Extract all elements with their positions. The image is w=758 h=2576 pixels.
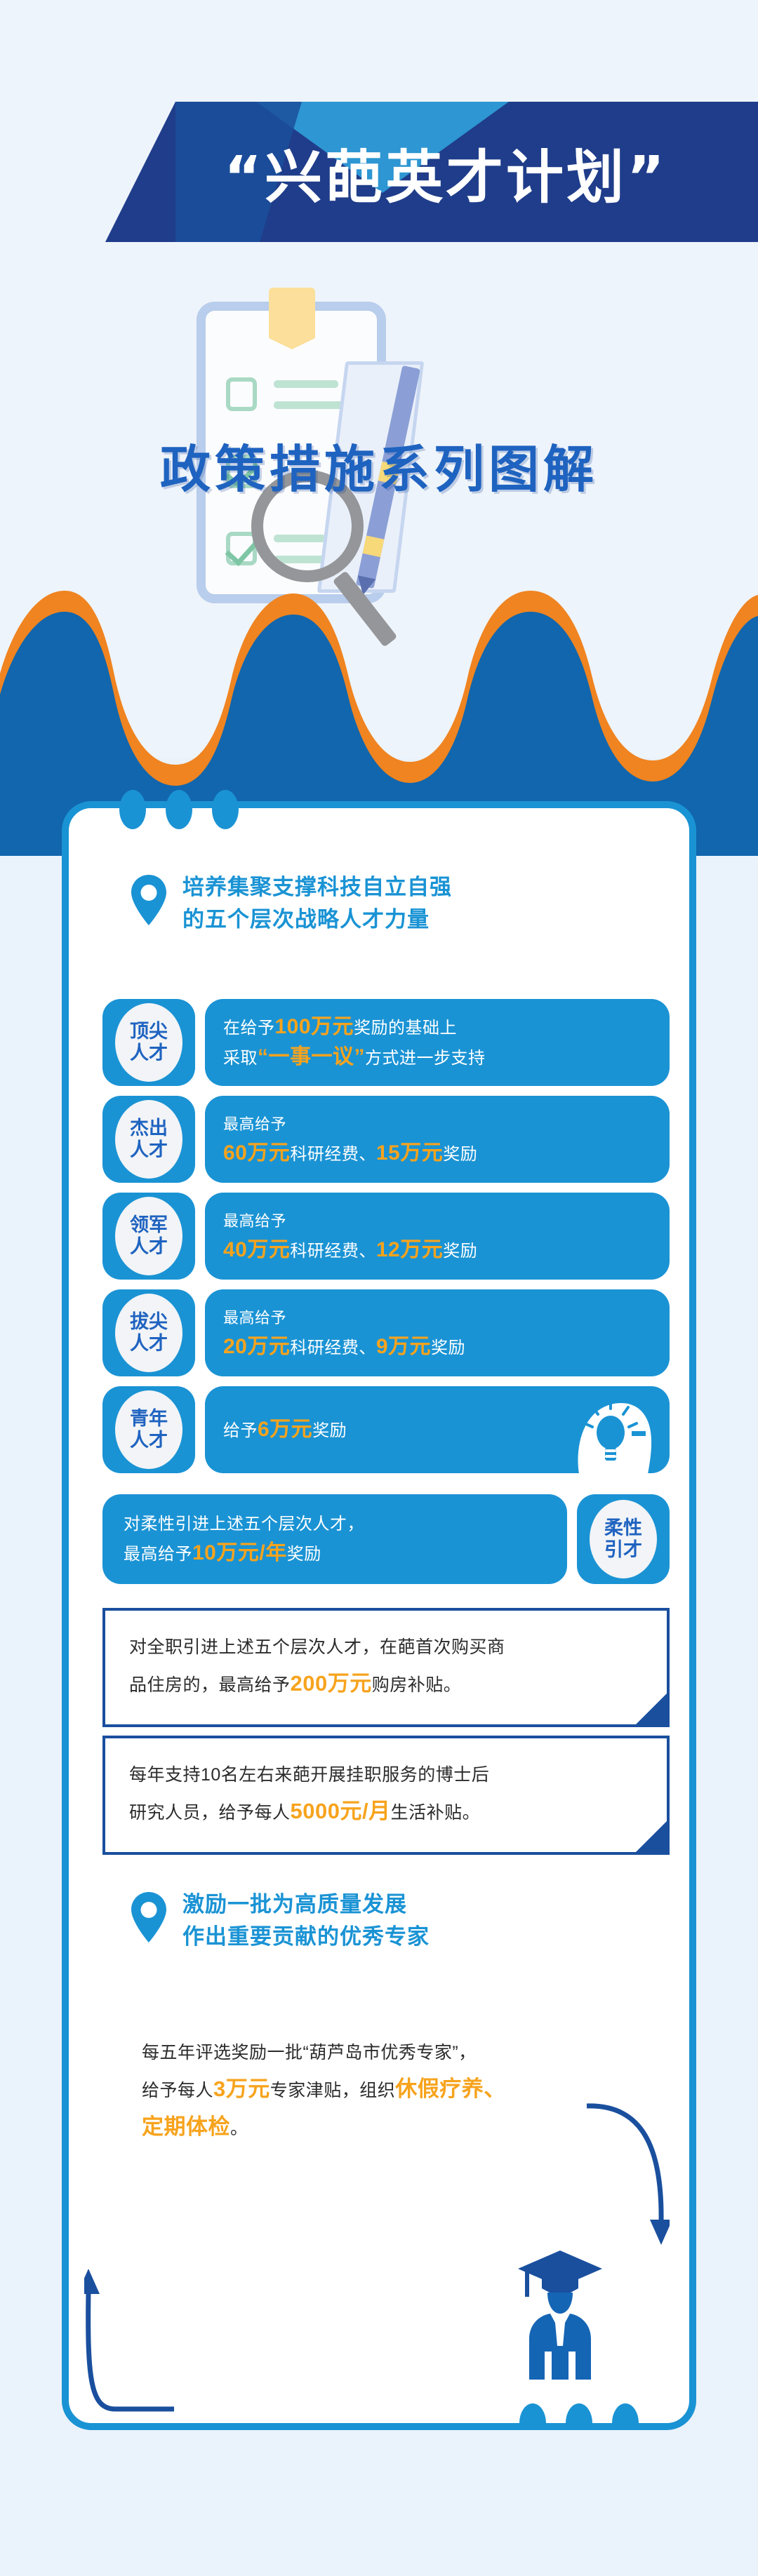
tier-row: 领军 人才 最高给予 40万元科研经费、12万元奖励 (102, 1193, 670, 1280)
flexible-label-line-2: 引才 (604, 1539, 642, 1561)
tier-description: 最高给予 20万元科研经费、9万元奖励 (205, 1289, 670, 1376)
amount-highlight: 60万元 (223, 1141, 290, 1165)
text-line-decoration (274, 380, 338, 388)
brain-lightbulb-icon (574, 1389, 657, 1473)
amount-highlight: 40万元 (223, 1238, 290, 1261)
text-mid: 科研经费、 (290, 1145, 376, 1164)
text-tail: 奖励 (443, 1145, 477, 1164)
tier-description: 最高给予 40万元科研经费、12万元奖励 (205, 1193, 670, 1280)
text-mid: 科研经费、 (290, 1339, 376, 1357)
tier-oval: 青年 人才 (115, 1390, 182, 1469)
binder-ring-icon (119, 790, 146, 829)
tier-badge-outstanding-talent: 杰出 人才 (102, 1096, 195, 1183)
note-line-2: 给予每人3万元专家津贴，组织休假疗养、 (142, 2071, 633, 2109)
text-pre: 最高给予 (124, 1545, 192, 1564)
note-line-1: 每年支持10名左右来葩开展挂职服务的博士后 (129, 1757, 643, 1793)
note-line-2: 研究人员，给予每人5000元/月生活补贴。 (129, 1793, 643, 1831)
tier-row: 拔尖 人才 最高给予 20万元科研经费、9万元奖励 (102, 1289, 670, 1376)
tier-label-line-1: 顶尖 (130, 1021, 168, 1042)
page-subtitle: 政策措施系列图解 (0, 428, 758, 502)
amount-highlight: 15万元 (376, 1141, 443, 1165)
text-pre: 给予 (223, 1421, 258, 1440)
tier-amount-line: 40万元科研经费、12万元奖励 (223, 1235, 651, 1266)
benefit-highlight: 休假疗养、 (395, 2077, 506, 2101)
tier-oval: 杰出 人才 (115, 1100, 182, 1179)
binder-ring-icon (212, 790, 239, 829)
amount-highlight: 5000元/月 (291, 1799, 391, 1823)
tier-row: 青年 人才 给予6万元奖励 (102, 1386, 670, 1473)
pen-band (363, 535, 385, 557)
tier-description: 在给予100万元奖励的基础上 采取“一事一议”方式进一步支持 (205, 999, 670, 1086)
text-post: 购房补贴。 (372, 1675, 462, 1695)
tier-label-line-2: 人才 (130, 1333, 168, 1355)
housing-subsidy-note: 对全职引进上述五个层次人才，在葩首次购买商 品住房的，最高给予200万元购房补贴… (102, 1608, 670, 1727)
flexible-line-2: 最高给予10万元/年奖励 (124, 1538, 546, 1569)
clipboard-clip-icon (269, 288, 315, 349)
location-pin-icon (131, 874, 167, 926)
benefit-highlight: 定期体检 (142, 2114, 230, 2139)
text-post: 生活补贴。 (391, 1803, 481, 1823)
graduate-person-icon (514, 2249, 606, 2380)
flexible-talent-badge: 柔性 引才 (577, 1494, 670, 1584)
note-line-1: 对全职引进上述五个层次人才，在葩首次购买商 (129, 1629, 643, 1665)
quote-highlight: “一事一议” (258, 1045, 365, 1068)
tier-badge-young-talent: 青年 人才 (102, 1386, 195, 1473)
tier-label-line-1: 领军 (130, 1214, 168, 1236)
tier-oval: 顶尖 人才 (115, 1003, 182, 1082)
section-2-title-line-2: 作出重要贡献的优秀专家 (182, 1921, 430, 1953)
text-post: 。 (230, 2119, 248, 2138)
text-tail: 奖励 (443, 1242, 477, 1261)
tier-description-line-2: 采取“一事一议”方式进一步支持 (223, 1042, 651, 1073)
tier-label-line-2: 人才 (130, 1139, 168, 1161)
amount-highlight: 9万元 (376, 1335, 431, 1358)
tier-oval: 拔尖 人才 (115, 1294, 182, 1372)
amount-highlight: 6万元 (258, 1418, 312, 1441)
amount-highlight: 12万元 (376, 1238, 443, 1261)
text-post: 方式进一步支持 (365, 1049, 486, 1068)
location-pin-icon (131, 1891, 167, 1943)
tier-lead-text: 最高给予 (223, 1110, 651, 1139)
tier-label-line-2: 人才 (130, 1042, 168, 1064)
tier-label-line-1: 拔尖 (130, 1311, 168, 1333)
page-title: “兴葩英才计划” (105, 102, 758, 242)
tier-label-line-2: 人才 (130, 1430, 168, 1451)
text-mid: 专家津贴，组织 (270, 2081, 396, 2100)
tier-label-line-1: 青年 (130, 1408, 168, 1430)
tier-description-line-1: 在给予100万元奖励的基础上 (223, 1012, 651, 1042)
tier-badge-top-talent: 顶尖 人才 (102, 999, 195, 1086)
checkbox-icon (226, 377, 257, 411)
amount-highlight: 100万元 (275, 1015, 354, 1038)
text-tail: 奖励 (431, 1339, 465, 1357)
text-post: 奖励的基础上 (354, 1019, 457, 1038)
note-line-3: 定期体检。 (142, 2109, 633, 2147)
amount-highlight: 3万元 (213, 2077, 270, 2101)
amount-highlight: 10万元/年 (192, 1541, 287, 1564)
text-post: 奖励 (287, 1545, 321, 1564)
amount-highlight: 200万元 (291, 1671, 372, 1696)
note-line-1: 每五年评选奖励一批“葫芦岛市优秀专家”， (142, 2034, 633, 2071)
text-pre: 在给予 (223, 1019, 275, 1038)
text-pre: 采取 (223, 1049, 258, 1068)
section-1-title-line-1: 培养集聚支撑科技自立自强 (182, 871, 452, 904)
tier-row: 顶尖 人才 在给予100万元奖励的基础上 采取“一事一议”方式进一步支持 (102, 999, 670, 1086)
note-line-2: 品住房的，最高给予200万元购房补贴。 (129, 1665, 643, 1703)
tier-label-line-2: 人才 (130, 1236, 168, 1258)
main-content-card: 培养集聚支撑科技自立自强 的五个层次战略人才力量 顶尖 人才 在给予100万元奖… (62, 801, 696, 2430)
tier-description: 给予6万元奖励 (205, 1386, 670, 1473)
section-2-title-line-1: 激励一批为高质量发展 (182, 1889, 430, 1921)
tier-badge-leading-talent: 领军 人才 (102, 1193, 195, 1280)
tier-lead-text: 最高给予 (223, 1303, 651, 1332)
tier-lead-text: 最高给予 (223, 1207, 651, 1235)
tier-description: 最高给予 60万元科研经费、15万元奖励 (205, 1096, 670, 1183)
tier-oval: 柔性 引才 (590, 1500, 657, 1578)
tier-badge-top-notch-talent: 拔尖 人才 (102, 1289, 195, 1376)
amount-highlight: 20万元 (223, 1335, 290, 1358)
tier-label-line-1: 杰出 (130, 1118, 168, 1139)
section-1-title-line-2: 的五个层次战略人才力量 (182, 904, 452, 936)
tier-amount-line: 60万元科研经费、15万元奖励 (223, 1139, 651, 1169)
flexible-line-1: 对柔性引进上述五个层次人才， (124, 1510, 546, 1538)
binder-ring-icon (166, 790, 192, 829)
flexible-talent-row: 对柔性引进上述五个层次人才， 最高给予10万元/年奖励 柔性 引才 (102, 1494, 670, 1584)
tier-oval: 领军 人才 (115, 1197, 182, 1275)
tier-amount-line: 20万元科研经费、9万元奖励 (223, 1332, 651, 1362)
text-pre: 研究人员，给予每人 (129, 1803, 291, 1823)
curved-arrow-up-icon (84, 2250, 175, 2419)
tier-row: 杰出 人才 最高给予 60万元科研经费、15万元奖励 (102, 1096, 670, 1183)
flexible-talent-description: 对柔性引进上述五个层次人才， 最高给予10万元/年奖励 (102, 1494, 567, 1584)
bottom-strip (0, 2430, 758, 2576)
text-pre: 品住房的，最高给予 (129, 1675, 291, 1695)
text-pre: 给予每人 (142, 2081, 213, 2100)
section-1-heading: 培养集聚支撑科技自立自强 的五个层次战略人才力量 (131, 871, 622, 936)
section-2-heading: 激励一批为高质量发展 作出重要贡献的优秀专家 (131, 1889, 622, 1953)
postdoc-subsidy-note: 每年支持10名左右来葩开展挂职服务的博士后 研究人员，给予每人5000元/月生活… (102, 1736, 670, 1855)
text-mid: 科研经费、 (290, 1242, 376, 1261)
text-post: 奖励 (312, 1421, 347, 1440)
flexible-label-line-1: 柔性 (604, 1517, 642, 1539)
expert-allowance-note: 每五年评选奖励一批“葫芦岛市优秀专家”， 给予每人3万元专家津贴，组织休假疗养、… (142, 2034, 633, 2147)
